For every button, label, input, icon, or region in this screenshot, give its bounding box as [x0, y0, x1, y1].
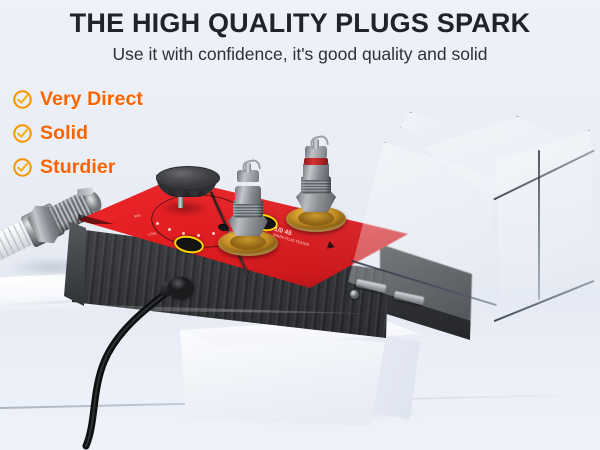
dial-tick — [197, 234, 200, 237]
transparent-safety-cover[interactable] — [340, 120, 590, 335]
rotary-knob[interactable] — [156, 166, 218, 198]
check-circle-icon — [12, 89, 33, 110]
knob-shadow — [148, 196, 220, 220]
dial-tick — [212, 232, 215, 235]
knob-top — [156, 166, 220, 190]
page-title: THE HIGH QUALITY PLUGS SPARK — [0, 8, 600, 39]
plug-brass-inner — [230, 234, 266, 250]
plug-brass-inner — [298, 210, 334, 226]
check-circle-icon — [12, 123, 33, 144]
dial-tick — [182, 232, 185, 235]
cover-corner-edge — [538, 150, 540, 300]
list-item: Solid — [12, 122, 242, 145]
mounted-spark-plug-front — [218, 176, 278, 256]
dial-label: MIN — [134, 214, 141, 219]
page-subtitle: Use it with confidence, it's good qualit… — [0, 44, 600, 65]
plug-metal-shell — [235, 186, 261, 204]
power-cable — [0, 250, 330, 450]
product-banner: THE HIGH QUALITY PLUGS SPARK Use it with… — [0, 0, 600, 450]
dial-tick — [156, 222, 159, 225]
dial-tick — [168, 228, 171, 231]
feature-label: Very Direct — [40, 88, 143, 111]
plug-red-band — [304, 158, 328, 165]
feature-label: Solid — [40, 122, 88, 145]
mounted-spark-plug-rear — [286, 152, 346, 232]
check-circle-icon — [12, 157, 33, 178]
list-item: Very Direct — [12, 88, 242, 111]
